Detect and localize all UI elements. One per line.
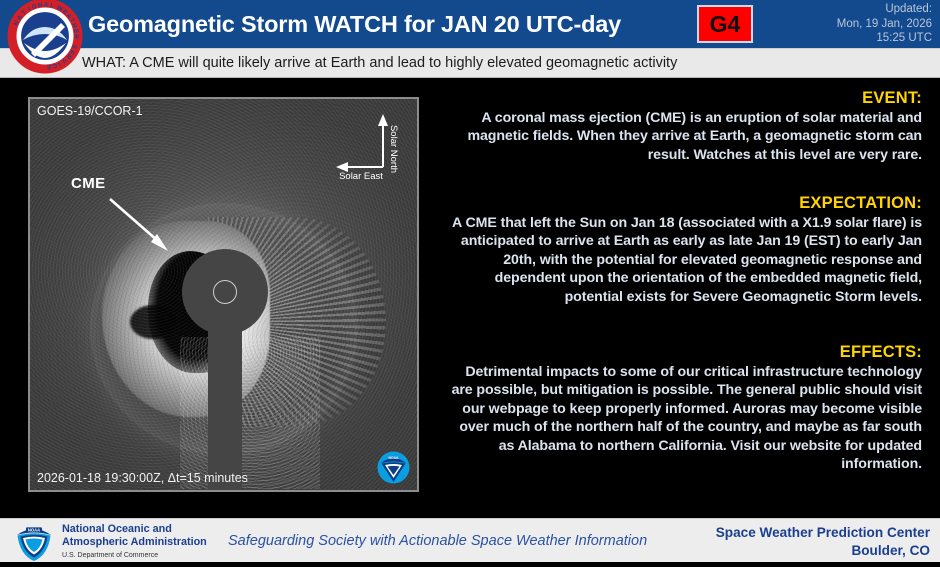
section-effects-body: Detrimental impacts to some of our criti… [450, 363, 922, 473]
section-effects: EFFECTS: Detrimental impacts to some of … [450, 342, 922, 473]
occulter-pylon [208, 289, 242, 492]
section-event-heading: EVENT: [450, 88, 922, 109]
updated-label: Updated: [742, 2, 932, 17]
swpc-name: Space Weather Prediction Center [716, 524, 930, 542]
solar-orientation-compass: Solar North Solar East [331, 109, 409, 181]
swpc-location: Boulder, CO [716, 542, 930, 560]
noaa-agency-text: National Oceanic and Atmospheric Adminis… [62, 523, 207, 561]
alert-body: GOES-19/CCOR-1 2026-01-18 19:30:00Z, Δt=… [0, 79, 940, 518]
agency-line-1: National Oceanic and [62, 523, 207, 536]
compass-east-label: Solar East [339, 171, 383, 181]
svg-text:NOAA: NOAA [389, 456, 400, 460]
instrument-label: GOES-19/CCOR-1 [37, 104, 143, 118]
alert-text-column: EVENT: A coronal mass ejection (CME) is … [443, 79, 930, 518]
updated-timestamp: Updated: Mon, 19 Jan, 2026 15:25 UTC [742, 2, 932, 46]
noaa-logo-icon: NOAA [14, 522, 54, 562]
what-summary-text: WHAT: A CME will quite likely arrive at … [82, 49, 677, 78]
noaa-seal-icon: NOAA [377, 451, 410, 484]
what-summary-bar: WHAT: A CME will quite likely arrive at … [0, 48, 940, 78]
national-weather-service-logo-icon: N A T I O N A L W E A T H E R S E R V I [5, 0, 85, 76]
section-event: EVENT: A coronal mass ejection (CME) is … [450, 88, 922, 164]
svg-text:NOAA: NOAA [28, 527, 40, 532]
compass-north-label: Solar North [388, 125, 399, 173]
page-header: N A T I O N A L W E A T H E R S E R V I [0, 0, 940, 48]
section-expectation-heading: EXPECTATION: [450, 193, 922, 214]
page-title: Geomagnetic Storm WATCH for JAN 20 UTC-d… [88, 4, 688, 44]
swpc-attribution: Space Weather Prediction Center Boulder,… [716, 524, 930, 559]
page-footer: NOAA National Oceanic and Atmospheric Ad… [0, 518, 940, 562]
footer-tagline: Safeguarding Society with Actionable Spa… [228, 533, 647, 549]
svg-text:R: R [72, 34, 79, 39]
updated-time: 15:25 UTC [742, 31, 932, 46]
svg-text:E: E [46, 63, 51, 70]
cme-annotation-label: CME [71, 175, 106, 192]
coronagraph-image-panel: GOES-19/CCOR-1 2026-01-18 19:30:00Z, Δt=… [28, 97, 419, 492]
sun-position-circle [213, 280, 237, 304]
section-expectation-body: A CME that left the Sun on Jan 18 (assoc… [450, 214, 922, 306]
section-expectation: EXPECTATION: A CME that left the Sun on … [450, 193, 922, 306]
agency-department: U.S. Department of Commerce [62, 550, 207, 561]
section-event-body: A coronal mass ejection (CME) is an erup… [450, 109, 922, 164]
agency-line-2: Atmospheric Administration [62, 536, 207, 549]
section-effects-heading: EFFECTS: [450, 342, 922, 363]
cme-arrow-icon [106, 195, 176, 262]
updated-date: Mon, 19 Jan, 2026 [742, 17, 932, 32]
image-timestamp-label: 2026-01-18 19:30:00Z, Δt=15 minutes [37, 471, 248, 485]
